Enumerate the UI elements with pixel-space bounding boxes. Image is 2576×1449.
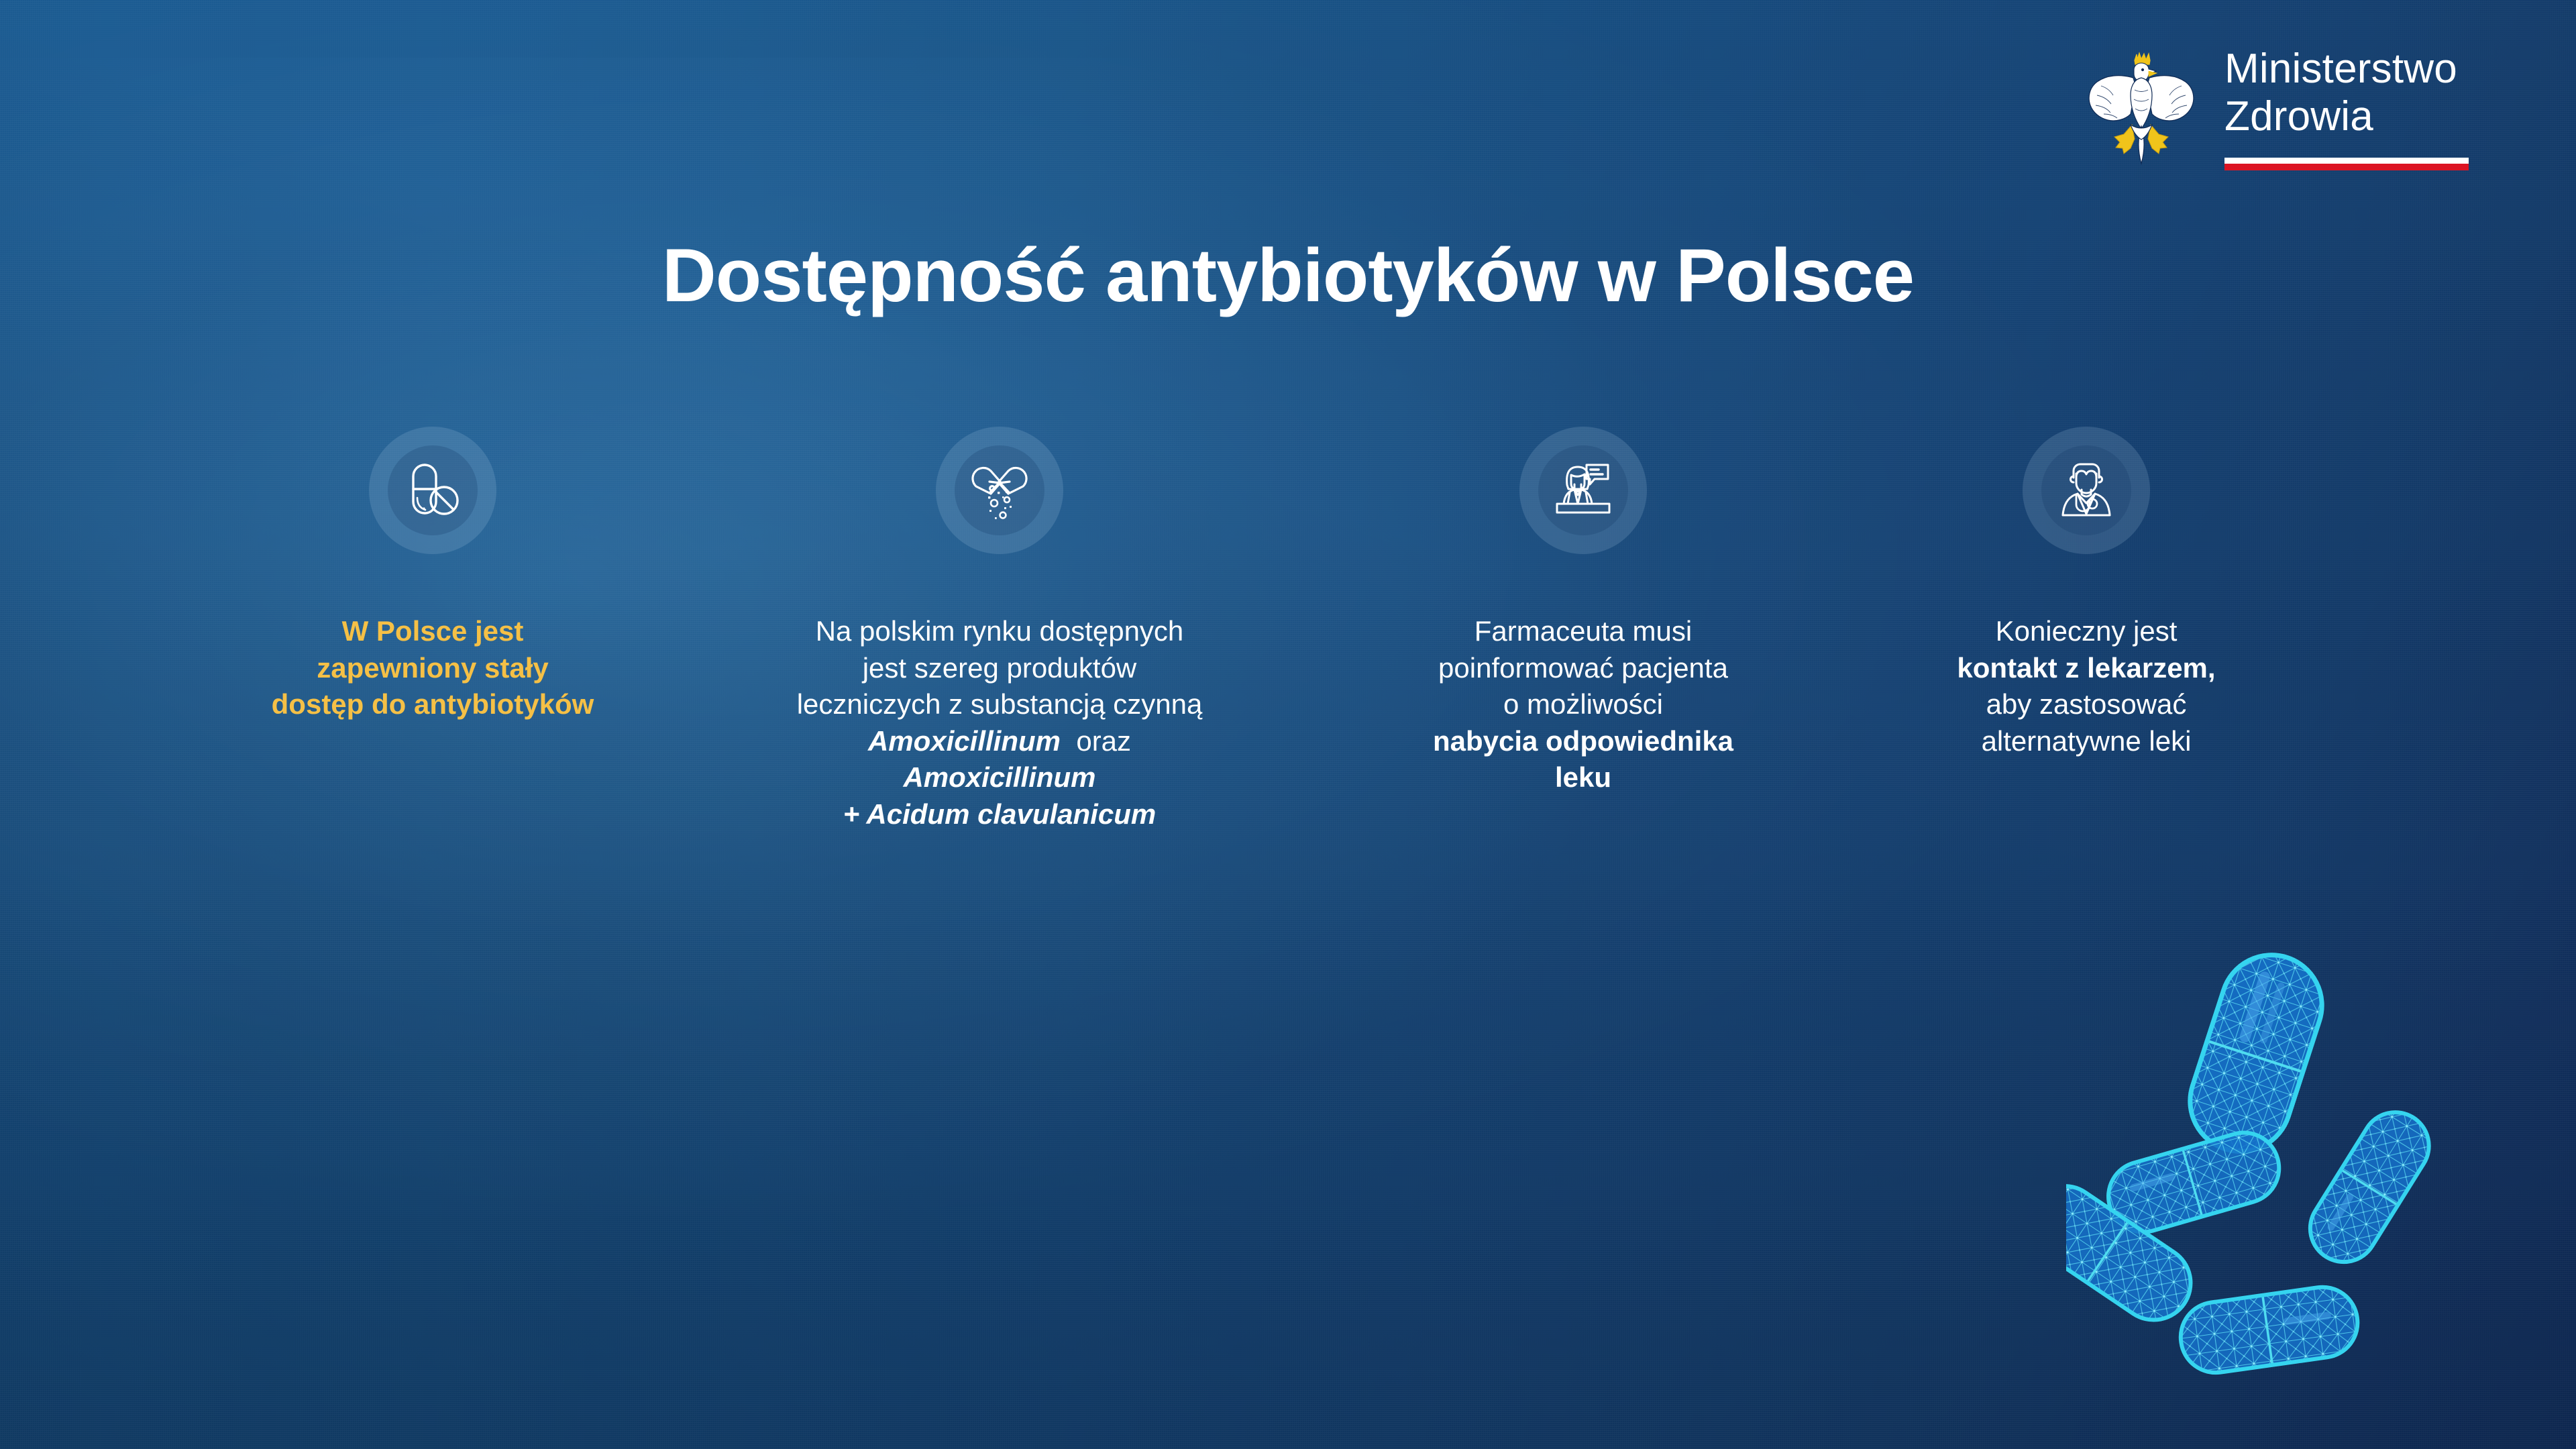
infographic-slide: Ministerstwo Zdrowia Dostępność antybiot… [0,0,2576,1449]
info-line: + Acidum clavulanicum [797,796,1203,833]
info-line: Farmaceuta musi [1433,613,1733,650]
info-column-1-text: W Polsce jest zapewniony stały dostęp do… [272,613,594,723]
page-title: Dostępność antybiotyków w Polsce [0,236,2576,316]
capsule-and-tablet-icon [397,455,468,526]
info-line-bold: nabycia odpowiednika [1433,723,1733,760]
info-line: dostęp do antybiotyków [272,686,594,723]
info-column-4: Konieczny jest kontakt z lekarzem, aby z… [1831,427,2341,759]
info-column-2: Na polskim rynku dostępnych jest szereg … [664,427,1335,833]
flag-stripe-white [2224,158,2469,164]
info-line: W Polsce jest [272,613,594,650]
info-line: leczniczych z substancją czynną [797,686,1203,723]
info-column-3: Farmaceuta musi poinformować pacjenta o … [1335,427,1831,796]
open-capsule-powder-icon [964,455,1035,526]
info-line: Amoxicillinum oraz [797,723,1203,760]
polish-eagle-emblem [2081,39,2202,173]
ministry-line-1: Ministerstwo [2224,46,2469,93]
info-column-2-text: Na polskim rynku dostępnych jest szereg … [797,613,1203,833]
info-line: Amoxicillinum [797,759,1203,796]
info-line-suffix: oraz [1069,725,1131,757]
info-line-bold: kontakt z lekarzem, [1957,650,2215,687]
ministry-logo: Ministerstwo Zdrowia [2081,39,2469,173]
info-line: zapewniony stały [272,650,594,687]
info-column-4-text: Konieczny jest kontakt z lekarzem, aby z… [1957,613,2215,759]
polish-flag-bar [2224,158,2469,170]
pharmacist-at-counter-icon [1548,455,1619,526]
info-line: Konieczny jest [1957,613,2215,650]
info-column-3-text: Farmaceuta musi poinformować pacjenta o … [1433,613,1733,796]
icon-badge-2 [936,427,1063,554]
info-line-bold: leku [1433,759,1733,796]
ministry-name: Ministerstwo Zdrowia [2224,39,2469,170]
info-line-strong: leku [1555,761,1611,793]
ministry-line-2: Zdrowia [2224,93,2469,141]
drug-name-amoxicillinum: Amoxicillinum [903,761,1095,793]
doctor-stethoscope-icon [2051,455,2122,526]
info-line: Na polskim rynku dostępnych [797,613,1203,650]
info-line: jest szereg produktów [797,650,1203,687]
info-line: aby zastosować [1957,686,2215,723]
info-line: alternatywne leki [1957,723,2215,760]
info-column-1: W Polsce jest zapewniony stały dostęp do… [201,427,664,723]
flag-stripe-red [2224,164,2469,170]
icon-badge-1 [369,427,496,554]
drug-name-acidum-clavulanicum: + Acidum clavulanicum [843,798,1156,830]
info-line: poinformować pacjenta [1433,650,1733,687]
info-line-strong: kontakt z lekarzem, [1957,652,2215,684]
drug-name-amoxicillinum: Amoxicillinum [868,725,1061,757]
info-line: o możliwości [1433,686,1733,723]
icon-badge-4 [2023,427,2150,554]
info-line-strong: nabycia odpowiednika [1433,725,1733,757]
info-columns: W Polsce jest zapewniony stały dostęp do… [201,427,2375,833]
icon-badge-3 [1519,427,1647,554]
